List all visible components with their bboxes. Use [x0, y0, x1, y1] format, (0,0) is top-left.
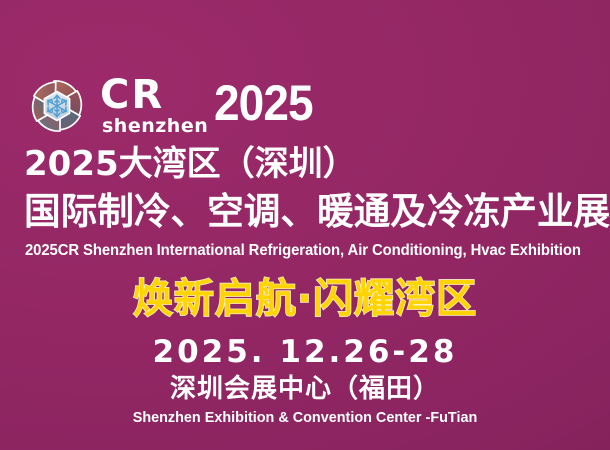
logo-lockup: CR shenzhen 2025 [22, 68, 321, 144]
logo-year: 2025 [214, 78, 313, 128]
logo-wordmark-cr: CR [100, 75, 164, 115]
logo-wordmark-shenzhen: shenzhen [102, 117, 208, 136]
headline-line-1: 2025大湾区（深圳） [24, 147, 357, 181]
event-venue-chinese: 深圳会展中心（福田） [0, 376, 610, 402]
headline-subtitle-english: 2025CR Shenzhen International Refrigerat… [25, 243, 581, 259]
exhibition-poster: CR shenzhen 2025 2025大湾区（深圳） 国际制冷、空调、暖通及… [0, 0, 610, 450]
event-date: 2025. 12.26-28 [0, 337, 610, 368]
logo-wordmark: CR shenzhen [100, 73, 208, 139]
slogan-text: 焕新启航·闪耀湾区 [0, 279, 610, 319]
headline-line-2: 国际制冷、空调、暖通及冷冻产业展 [24, 193, 610, 230]
event-venue-english: Shenzhen Exhibition & Convention Center … [12, 410, 598, 425]
aperture-snowflake-logo-icon [22, 71, 92, 141]
